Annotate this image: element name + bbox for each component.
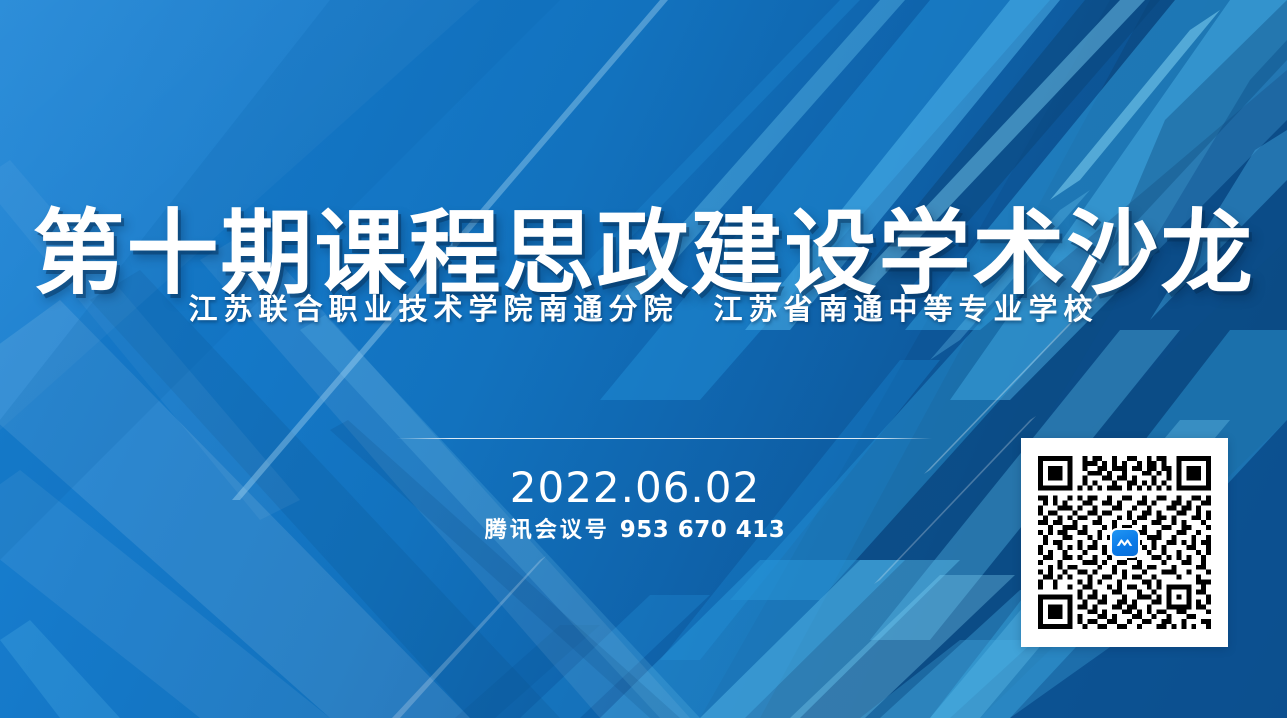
meeting-label: 腾讯会议号 — [485, 517, 610, 543]
subtitle-organizers: 江苏联合职业技术学院南通分院 江苏省南通中等专业学校 — [0, 286, 1287, 328]
poster-content: 第十期课程思政建设学术沙龙 江苏联合职业技术学院南通分院 江苏省南通中等专业学校… — [0, 0, 1287, 718]
meeting-mountain-glyph — [1115, 533, 1134, 552]
tencent-meeting-logo-icon — [1110, 528, 1140, 558]
poster-canvas: 第十期课程思政建设学术沙龙 江苏联合职业技术学院南通分院 江苏省南通中等专业学校… — [0, 0, 1287, 718]
divider-line — [396, 438, 932, 439]
meeting-number: 953 670 413 — [620, 517, 786, 543]
meeting-info: 腾讯会议号953 670 413 — [360, 512, 910, 544]
qr-code-card[interactable] — [1021, 438, 1228, 647]
event-date: 2022.06.02 — [360, 463, 910, 512]
